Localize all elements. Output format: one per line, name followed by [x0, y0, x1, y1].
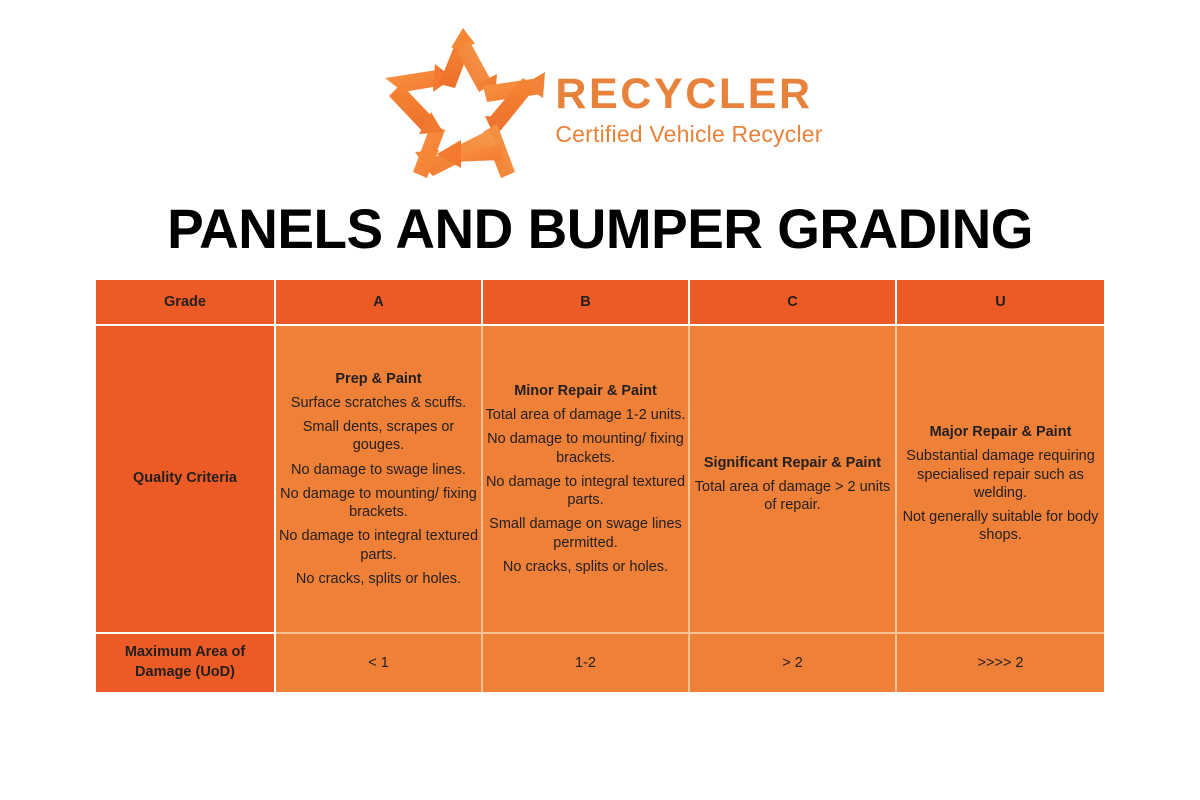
criteria-line: No damage to mounting/ fixing brackets.	[483, 430, 688, 467]
table-row-maximum-area-of-damage: Maximum Area of Damage (UoD) < 1 1-2 > 2…	[96, 634, 1104, 692]
header-grade-label: Grade	[96, 280, 276, 326]
logo-wordmark: RECYCLER	[555, 72, 822, 117]
logo-text-block: RECYCLER Certified Vehicle Recycler	[555, 56, 822, 147]
criteria-line: No damage to swage lines.	[276, 461, 481, 479]
uod-value-grade-c: > 2	[690, 634, 897, 692]
criteria-line: Small dents, scrapes or gouges.	[276, 418, 481, 455]
page-title: PANELS AND BUMPER GRADING	[12, 196, 1188, 261]
criteria-cell-grade-a: Prep & Paint Surface scratches & scuffs.…	[276, 326, 483, 634]
uod-value-grade-b: 1-2	[483, 634, 690, 692]
criteria-cell-grade-b: Minor Repair & Paint Total area of damag…	[483, 326, 690, 634]
criteria-cell-grade-c: Significant Repair & Paint Total area of…	[690, 326, 897, 634]
table-header-row: Grade A B C U	[96, 280, 1104, 326]
logo-tagline: Certified Vehicle Recycler	[555, 122, 822, 147]
criteria-line: No damage to integral textured parts.	[276, 527, 481, 564]
header-grade-b: B	[483, 280, 690, 326]
criteria-line: No cracks, splits or holes.	[276, 570, 481, 588]
criteria-heading-a: Prep & Paint	[276, 370, 481, 388]
panels-bumper-grading-table: Grade A B C U Quality Criteria Prep & Pa…	[96, 280, 1104, 692]
header-grade-c: C	[690, 280, 897, 326]
logo-inner: RECYCLER Certified Vehicle Recycler	[377, 26, 822, 178]
header-grade-a: A	[276, 280, 483, 326]
criteria-line: Total area of damage 1-2 units.	[483, 406, 688, 424]
brand-logo: RECYCLER Certified Vehicle Recycler	[0, 24, 1200, 180]
table-row-quality-criteria: Quality Criteria Prep & Paint Surface sc…	[96, 326, 1104, 634]
uod-value-grade-u: >>>> 2	[897, 634, 1104, 692]
criteria-line: Small damage on swage lines permitted.	[483, 515, 688, 552]
criteria-line: No cracks, splits or holes.	[483, 558, 688, 576]
criteria-line: No damage to mounting/ fixing brackets.	[276, 485, 481, 522]
criteria-heading-u: Major Repair & Paint	[897, 423, 1104, 441]
header-grade-u: U	[897, 280, 1104, 326]
criteria-line: Surface scratches & scuffs.	[276, 394, 481, 412]
criteria-heading-c: Significant Repair & Paint	[690, 454, 895, 472]
row-label-maximum-area-of-damage: Maximum Area of Damage (UoD)	[96, 634, 276, 692]
criteria-line: Total area of damage > 2 units of repair…	[690, 478, 895, 515]
criteria-line: Not generally suitable for body shops.	[897, 508, 1104, 545]
row-label-quality-criteria: Quality Criteria	[96, 326, 276, 634]
criteria-cell-grade-u: Major Repair & Paint Substantial damage …	[897, 326, 1104, 634]
criteria-line: Substantial damage requiring specialised…	[897, 447, 1104, 502]
recycling-star-icon	[377, 26, 549, 178]
criteria-line: No damage to integral textured parts.	[483, 473, 688, 510]
uod-value-grade-a: < 1	[276, 634, 483, 692]
criteria-heading-b: Minor Repair & Paint	[483, 382, 688, 400]
